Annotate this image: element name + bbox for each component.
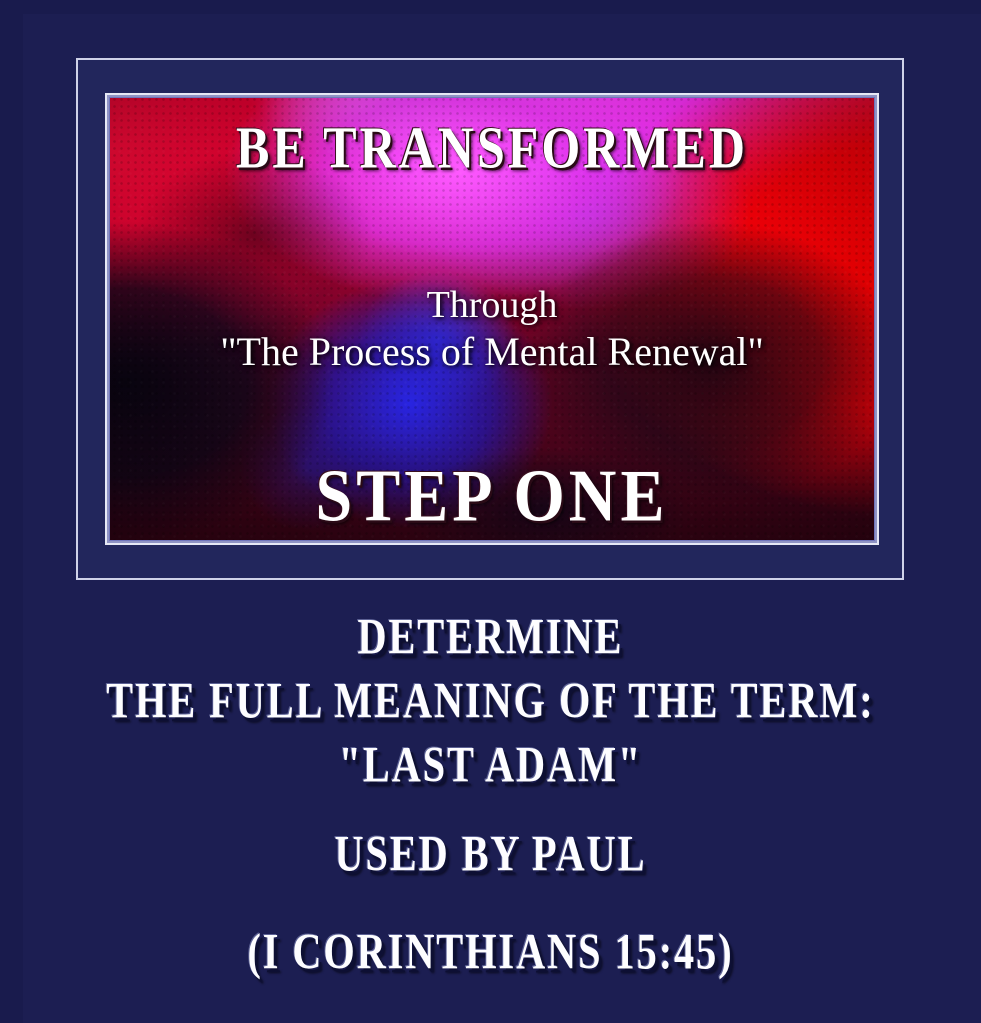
picture-frame: Be Transformed Through "The Process of M… xyxy=(76,58,904,580)
caption-block: Determine The Full Meaning of the Term: … xyxy=(0,600,981,979)
subtitle-block: Through "The Process of Mental Renewal" xyxy=(110,283,874,377)
subtitle-through: Through xyxy=(110,283,874,328)
subtitle-mental-renewal: "The Process of Mental Renewal" xyxy=(110,328,874,377)
caption-group-scripture-reference: (I Corinthians 15:45) xyxy=(0,915,981,979)
photo-bevel-inner: Be Transformed Through "The Process of M… xyxy=(109,97,875,541)
photo-text-overlay: Be Transformed Through "The Process of M… xyxy=(110,98,874,540)
caption-line-used-by-paul: Used by Paul xyxy=(20,817,962,895)
headline-step-one: Step One xyxy=(110,460,874,534)
slide-canvas: Be Transformed Through "The Process of M… xyxy=(0,0,981,1023)
headline-be-transformed: Be Transformed xyxy=(110,118,874,177)
caption-group-used-by-paul: Used by Paul xyxy=(0,817,981,881)
caption-group-determine: Determine The Full Meaning of the Term: … xyxy=(0,600,981,791)
caption-line-last-adam: "Last Adam" xyxy=(20,728,962,806)
caption-line-scripture-ref: (I Corinthians 15:45) xyxy=(20,915,962,993)
